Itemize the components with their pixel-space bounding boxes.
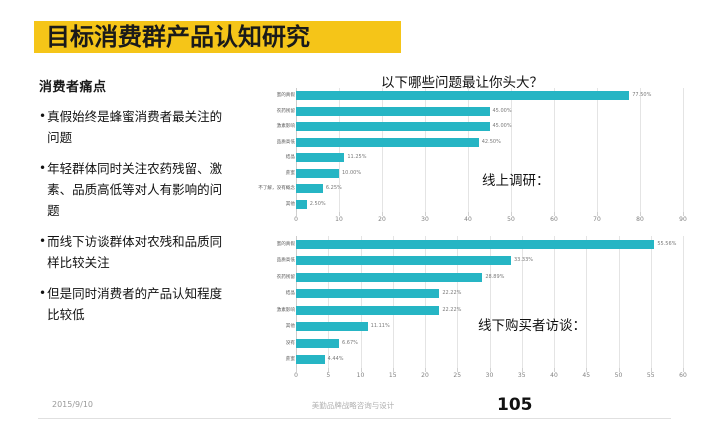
chart-bar (296, 240, 654, 249)
x-tick-label: 5 (326, 372, 330, 379)
bar-value-label: 42.50% (479, 138, 501, 147)
bullet-marker-icon: • (39, 106, 46, 127)
bar-track: 55.56% (296, 240, 683, 249)
chart-bar-row: 蜜的真假77.50% (233, 90, 683, 101)
page-number: 105 (497, 395, 533, 415)
chart-bar-row: 不了解，没有概念6.25% (233, 183, 683, 194)
bullet-marker-icon: • (39, 158, 46, 179)
chart1-bar-rows: 蜜的真假77.50%农药残留45.00%激素影响45.00%品质高低42.50%… (233, 88, 683, 212)
bar-track: 28.89% (296, 273, 683, 282)
x-tick-label: 60 (679, 372, 687, 379)
bullet-marker-icon: • (39, 231, 46, 252)
category-label: 品质高低 (175, 255, 295, 266)
chart-bar-row: 其他2.50% (233, 199, 683, 210)
category-label: 不了解，没有概念 (175, 183, 295, 194)
bar-value-label: 22.22% (439, 289, 461, 298)
bar-value-label: 4.44% (325, 355, 344, 364)
chart2-x-axis: 051015202530354045505560 (296, 368, 683, 384)
chart-bar (296, 184, 323, 193)
bullet-marker-icon: • (39, 283, 46, 304)
x-tick-label: 55 (647, 372, 655, 379)
painpoint-bullet: •而线下访谈群体对农残和品质同样比较关注 (39, 231, 229, 273)
x-tick-label: 25 (453, 372, 461, 379)
chart2-plot-area: 蜜的真假55.56%品质高低33.33%农药残留28.89%结晶22.22%激素… (233, 236, 683, 384)
bar-track: 77.50% (296, 91, 683, 100)
category-label: 农药残留 (175, 272, 295, 283)
bar-value-label: 55.56% (654, 240, 676, 249)
bar-track: 11.25% (296, 153, 683, 162)
bar-track: 2.50% (296, 200, 683, 209)
bar-value-label: 10.00% (339, 169, 361, 178)
chart-bar (296, 339, 339, 348)
x-tick-label: 0 (294, 372, 298, 379)
x-tick-label: 10 (335, 216, 343, 223)
x-tick-label: 30 (486, 372, 494, 379)
bar-track: 6.67% (296, 339, 683, 348)
page-title: 目标消费群产品认知研究 (46, 22, 406, 52)
bar-track: 22.22% (296, 289, 683, 298)
chart-bar (296, 91, 629, 100)
chart-bar-row: 农药残留45.00% (233, 106, 683, 117)
footer-divider (38, 418, 671, 419)
x-tick-label: 60 (550, 216, 558, 223)
chart-bar (296, 153, 344, 162)
footer-company: 美勤品牌战略咨询与设计 (0, 400, 706, 411)
bar-value-label: 45.00% (490, 107, 512, 116)
bar-value-label: 6.25% (323, 184, 342, 193)
painpoint-bullet-text: 而线下访谈群体对农残和品质同样比较关注 (47, 231, 229, 273)
chart-bar (296, 256, 511, 265)
chart-bar (296, 138, 479, 147)
bar-track: 42.50% (296, 138, 683, 147)
chart-bar (296, 200, 307, 209)
category-label: 没有 (175, 338, 295, 349)
bar-value-label: 6.67% (339, 339, 358, 348)
chart-bar-row: 没有6.67% (233, 338, 683, 349)
chart-bar-row: 蔗蜜10.00% (233, 168, 683, 179)
x-tick-label: 10 (357, 372, 365, 379)
x-tick-label: 0 (294, 216, 298, 223)
chart-bar (296, 355, 325, 364)
category-label: 品质高低 (175, 137, 295, 148)
category-label: 蜜的真假 (175, 239, 295, 250)
bar-value-label: 45.00% (490, 122, 512, 131)
bar-value-label: 2.50% (307, 200, 326, 209)
annotation-offline-interview: 线下购买者访谈： (478, 314, 586, 334)
chart2-bar-rows: 蜜的真假55.56%品质高低33.33%农药残留28.89%结晶22.22%激素… (233, 236, 683, 368)
x-tick-label: 15 (389, 372, 397, 379)
chart-bar (296, 169, 339, 178)
bar-track: 45.00% (296, 107, 683, 116)
chart-bar-row: 结晶11.25% (233, 152, 683, 163)
chart-bar-row: 激素影响22.22% (233, 305, 683, 316)
bar-value-label: 28.89% (482, 273, 504, 282)
bar-value-label: 33.33% (511, 256, 533, 265)
chart-bar (296, 122, 490, 131)
chart-gridline (683, 88, 684, 212)
x-tick-label: 20 (421, 372, 429, 379)
category-label: 其他 (175, 199, 295, 210)
chart-bar (296, 306, 439, 315)
category-label: 激素影响 (175, 121, 295, 132)
chart-bar (296, 322, 368, 331)
category-label: 蜜的真假 (175, 90, 295, 101)
chart-bar-row: 结晶22.22% (233, 288, 683, 299)
x-tick-label: 50 (615, 372, 623, 379)
x-tick-label: 50 (507, 216, 515, 223)
chart-gridline (683, 236, 684, 368)
bar-track: 33.33% (296, 256, 683, 265)
x-tick-label: 45 (582, 372, 590, 379)
bar-track: 45.00% (296, 122, 683, 131)
annotation-online-survey: 线上调研： (482, 169, 550, 189)
chart-bar (296, 273, 482, 282)
chart1-x-axis: 0102030405060708090 (296, 212, 683, 228)
x-tick-label: 40 (550, 372, 558, 379)
x-tick-label: 70 (593, 216, 601, 223)
category-label: 结晶 (175, 288, 295, 299)
chart-bar (296, 289, 439, 298)
chart-bar-row: 农药残留28.89% (233, 272, 683, 283)
bar-track: 4.44% (296, 355, 683, 364)
chart-bar-row: 激素影响45.00% (233, 121, 683, 132)
offline-interview-bar-chart: 蜜的真假55.56%品质高低33.33%农药残留28.89%结晶22.22%激素… (233, 236, 683, 384)
chart1-plot-area: 蜜的真假77.50%农药残留45.00%激素影响45.00%品质高低42.50%… (233, 88, 683, 228)
category-label: 其他 (175, 321, 295, 332)
chart-bar-row: 品质高低42.50% (233, 137, 683, 148)
category-label: 农药残留 (175, 106, 295, 117)
bar-value-label: 11.25% (344, 153, 366, 162)
bar-value-label: 11.11% (368, 322, 390, 331)
online-survey-bar-chart: 蜜的真假77.50%农药残留45.00%激素影响45.00%品质高低42.50%… (233, 88, 683, 228)
category-label: 蔗蜜 (175, 354, 295, 365)
bar-value-label: 22.22% (439, 306, 461, 315)
chart-bar-row: 蜜的真假55.56% (233, 239, 683, 250)
x-tick-label: 40 (464, 216, 472, 223)
bar-value-label: 77.50% (629, 91, 651, 100)
category-label: 结晶 (175, 152, 295, 163)
x-tick-label: 35 (518, 372, 526, 379)
x-tick-label: 30 (421, 216, 429, 223)
category-label: 激素影响 (175, 305, 295, 316)
x-tick-label: 90 (679, 216, 687, 223)
chart-bar-row: 品质高低33.33% (233, 255, 683, 266)
x-tick-label: 80 (636, 216, 644, 223)
x-tick-label: 20 (378, 216, 386, 223)
category-label: 蔗蜜 (175, 168, 295, 179)
chart-bar-row: 其他11.11% (233, 321, 683, 332)
slide-canvas: 目标消费群产品认知研究 消费者痛点 •真假始终是蜂蜜消费者最关注的问题•年轻群体… (0, 0, 706, 430)
chart-bar (296, 107, 490, 116)
chart-bar-row: 蔗蜜4.44% (233, 354, 683, 365)
